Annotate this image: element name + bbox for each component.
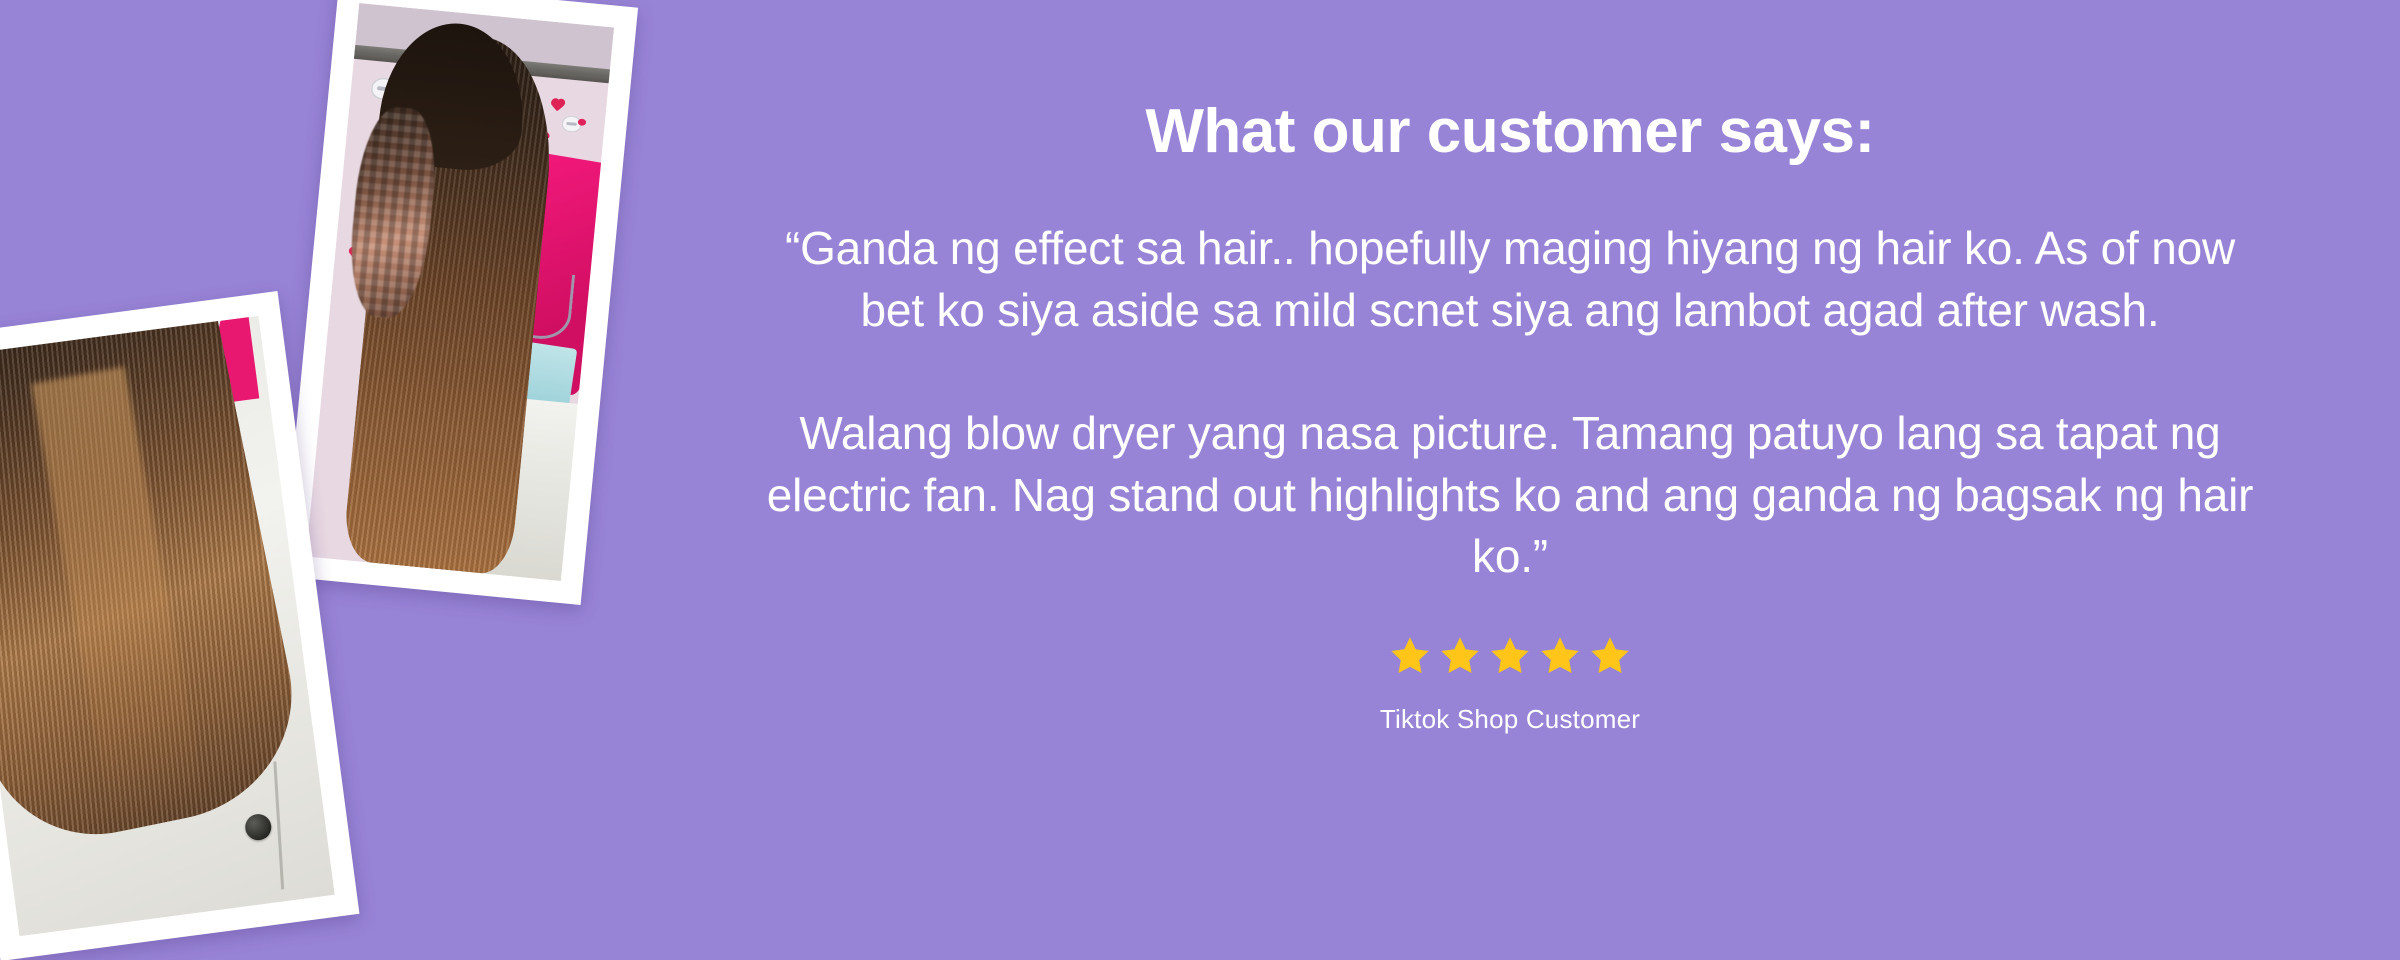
star-icon	[1588, 634, 1632, 678]
customer-photo-top	[306, 3, 614, 581]
photo-bottom-background	[0, 316, 335, 937]
star-icon	[1438, 634, 1482, 678]
quote-paragraph-2: Walang blow dryer yang nasa picture. Tam…	[755, 403, 2265, 588]
customer-photo-bottom	[0, 316, 335, 937]
quote-paragraph-1: “Ganda ng effect sa hair.. hopefully mag…	[755, 218, 2265, 341]
star-icon	[1388, 634, 1432, 678]
heart-icon	[552, 99, 564, 111]
shirt-seam	[274, 761, 285, 889]
photo-collage	[0, 0, 760, 960]
shirt-button	[244, 812, 273, 841]
page-title: What our customer says:	[1145, 98, 1874, 166]
testimonial-content: What our customer says: “Ganda ng effect…	[740, 0, 2280, 960]
testimonial-quote: “Ganda ng effect sa hair.. hopefully mag…	[755, 218, 2265, 588]
hello-kitty-icon	[561, 115, 582, 133]
star-icon	[1538, 634, 1582, 678]
rating-stars	[1388, 634, 1632, 678]
photo-top-background	[306, 3, 614, 581]
testimonial-author: Tiktok Shop Customer	[1380, 704, 1640, 735]
star-icon	[1488, 634, 1532, 678]
photo-frame-top[interactable]	[282, 0, 638, 605]
